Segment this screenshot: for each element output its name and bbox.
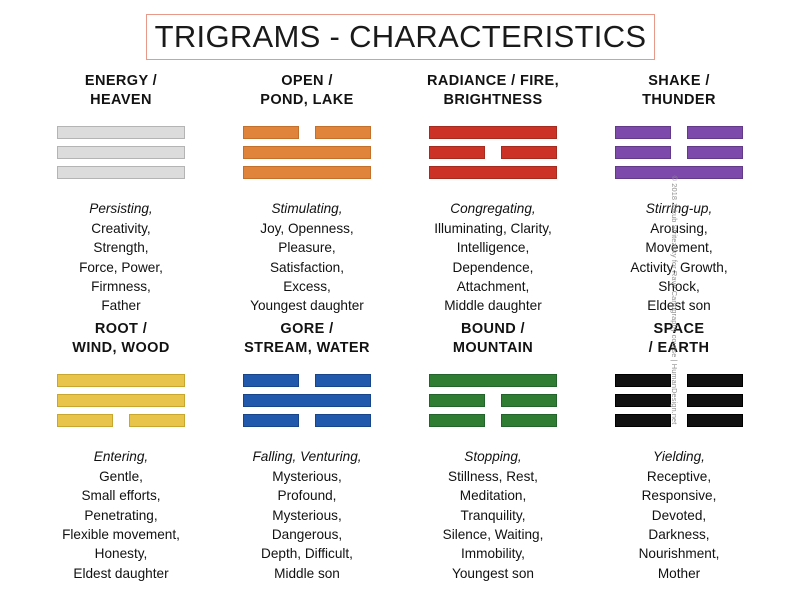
trigram-line-segment xyxy=(687,146,743,159)
trigram-keyword-line: Joy, Openness, xyxy=(250,219,364,238)
trigram-line-3-solid xyxy=(615,166,743,179)
trigram-line-2-broken xyxy=(429,146,557,159)
trigram-symbol-root-wind-wood xyxy=(57,374,185,427)
trigram-line-segment xyxy=(129,414,185,427)
trigram-line-segment xyxy=(315,126,371,139)
trigram-line-segment xyxy=(57,126,185,139)
trigram-keyword-line: Meditation, xyxy=(443,486,544,505)
trigram-title-line-1: SHAKE / xyxy=(642,72,716,91)
trigram-line-segment xyxy=(615,394,671,407)
trigram-title-line-2: MOUNTAIN xyxy=(453,339,533,358)
trigram-line-3-broken xyxy=(57,414,185,427)
trigram-line-3-broken xyxy=(243,414,371,427)
trigram-line-segment xyxy=(429,394,485,407)
poster-title-box: TRIGRAMS - CHARACTERISTICS xyxy=(146,14,655,60)
trigram-keyword-line: Father xyxy=(79,296,163,315)
trigram-line-2-solid xyxy=(57,146,185,159)
trigram-line-3-solid xyxy=(429,166,557,179)
trigram-keyword-line: Honesty, xyxy=(62,544,180,563)
trigram-keyword-lead: Stirring-up, xyxy=(630,199,727,218)
trigram-keyword-line: Small efforts, xyxy=(62,486,180,505)
trigram-symbol-radiance-fire-brightness xyxy=(429,126,557,179)
trigram-keyword-line: Profound, xyxy=(252,486,361,505)
trigram-keyword-line: Dependence, xyxy=(434,258,552,277)
trigram-keyword-line: Devoted, xyxy=(639,506,720,525)
trigram-keyword-line: Gentle, xyxy=(62,467,180,486)
trigram-keywords-radiance-fire-brightness: Congregating,Illuminating, Clarity,Intel… xyxy=(434,199,552,316)
trigram-line-1-solid xyxy=(429,374,557,387)
trigram-title-line-2: BRIGHTNESS xyxy=(427,91,559,110)
trigram-title-line-1: GORE / xyxy=(244,320,370,339)
trigram-line-segment xyxy=(501,414,557,427)
trigram-keyword-lead: Stimulating, xyxy=(250,199,364,218)
trigram-keyword-line: Mother xyxy=(639,564,720,583)
trigram-keyword-line: Responsive, xyxy=(639,486,720,505)
trigram-keyword-line: Youngest daughter xyxy=(250,296,364,315)
trigram-keyword-line: Youngest son xyxy=(443,564,544,583)
trigram-line-segment xyxy=(429,166,557,179)
trigram-keyword-line: Illuminating, Clarity, xyxy=(434,219,552,238)
trigram-keyword-line: Satisfaction, xyxy=(250,258,364,277)
trigram-title-line-2: POND, LAKE xyxy=(260,91,353,110)
trigram-line-1-broken xyxy=(243,126,371,139)
trigram-row-top: ENERGY /HEAVENPersisting,Creativity,Stre… xyxy=(28,70,772,318)
trigram-keyword-line: Middle daughter xyxy=(434,296,552,315)
trigram-keyword-line: Middle son xyxy=(252,564,361,583)
trigram-line-segment xyxy=(243,166,371,179)
trigram-title-line-1: OPEN / xyxy=(260,72,353,91)
trigram-line-1-broken xyxy=(243,374,371,387)
trigram-symbol-energy-heaven xyxy=(57,126,185,179)
trigram-keyword-line: Force, Power, xyxy=(79,258,163,277)
trigram-line-segment xyxy=(315,414,371,427)
trigram-keyword-line: Nourishment, xyxy=(639,544,720,563)
trigram-keyword-line: Stillness, Rest, xyxy=(443,467,544,486)
trigram-line-segment xyxy=(687,414,743,427)
trigram-line-segment xyxy=(243,374,299,387)
trigram-line-segment xyxy=(429,414,485,427)
trigram-title-line-1: RADIANCE / FIRE, xyxy=(427,72,559,91)
trigram-keyword-line: Activity, Growth, xyxy=(630,258,727,277)
trigram-symbol-shake-thunder xyxy=(615,126,743,179)
trigram-keyword-line: Attachment, xyxy=(434,277,552,296)
trigram-title-line-2: WIND, WOOD xyxy=(72,339,169,358)
trigram-title-line-2: HEAVEN xyxy=(85,91,157,110)
trigram-keywords-open-pond-lake: Stimulating,Joy, Openness,Pleasure,Satis… xyxy=(250,199,364,316)
trigram-line-1-solid xyxy=(429,126,557,139)
trigram-title-line-1: ENERGY / xyxy=(85,72,157,91)
trigram-grid: ENERGY /HEAVENPersisting,Creativity,Stre… xyxy=(28,70,772,586)
trigram-keyword-line: Dangerous, xyxy=(252,525,361,544)
trigram-keywords-root-wind-wood: Entering,Gentle,Small efforts,Penetratin… xyxy=(62,447,180,583)
trigram-line-segment xyxy=(57,166,185,179)
trigram-keyword-line: Pleasure, xyxy=(250,238,364,257)
trigram-keyword-line: Tranquility, xyxy=(443,506,544,525)
trigram-keyword-line: Silence, Waiting, xyxy=(443,525,544,544)
trigram-keywords-gore-stream-water: Falling, Venturing,Mysterious,Profound,M… xyxy=(252,447,361,583)
trigram-line-2-broken xyxy=(615,394,743,407)
trigram-keyword-lead: Stopping, xyxy=(443,447,544,466)
trigram-line-segment xyxy=(57,394,185,407)
trigram-line-2-solid xyxy=(57,394,185,407)
copyright-credit: © 2018 Jakub Stritezsky for Rave Cartogr… xyxy=(670,176,679,425)
trigram-cell-gore-stream-water: GORE /STREAM, WATERFalling, Venturing,My… xyxy=(214,318,400,586)
trigram-keyword-line: Eldest daughter xyxy=(62,564,180,583)
trigram-line-2-broken xyxy=(615,146,743,159)
trigram-line-3-broken xyxy=(429,414,557,427)
trigram-symbol-open-pond-lake xyxy=(243,126,371,179)
trigram-title-line-2: / EARTH xyxy=(649,339,710,358)
trigram-title-open-pond-lake: OPEN /POND, LAKE xyxy=(260,72,353,110)
trigram-keyword-line: Shock, xyxy=(630,277,727,296)
trigram-line-1-solid xyxy=(57,126,185,139)
trigram-line-segment xyxy=(615,126,671,139)
trigram-title-line-1: ROOT / xyxy=(72,320,169,339)
trigram-cell-shake-thunder: SHAKE /THUNDERStirring-up,Arousing,Movem… xyxy=(586,70,772,318)
trigram-keyword-line: Movement, xyxy=(630,238,727,257)
trigram-line-segment xyxy=(243,414,299,427)
trigram-keyword-line: Receptive, xyxy=(639,467,720,486)
trigram-keyword-line: Excess, xyxy=(250,277,364,296)
trigram-keyword-line: Mysterious, xyxy=(252,467,361,486)
trigram-line-segment xyxy=(687,394,743,407)
trigram-title-shake-thunder: SHAKE /THUNDER xyxy=(642,72,716,110)
trigram-line-2-broken xyxy=(429,394,557,407)
trigram-keyword-line: Flexible movement, xyxy=(62,525,180,544)
trigram-keywords-energy-heaven: Persisting,Creativity,Strength,Force, Po… xyxy=(79,199,163,316)
trigram-title-radiance-fire-brightness: RADIANCE / FIRE,BRIGHTNESS xyxy=(427,72,559,110)
trigram-line-segment xyxy=(429,126,557,139)
trigram-keywords-space-earth: Yielding,Receptive,Responsive,Devoted,Da… xyxy=(639,447,720,583)
trigram-title-energy-heaven: ENERGY /HEAVEN xyxy=(85,72,157,110)
trigram-keyword-line: Penetrating, xyxy=(62,506,180,525)
trigram-cell-open-pond-lake: OPEN /POND, LAKEStimulating,Joy, Opennes… xyxy=(214,70,400,318)
trigram-line-segment xyxy=(501,394,557,407)
trigram-keyword-line: Depth, Difficult, xyxy=(252,544,361,563)
trigram-cell-energy-heaven: ENERGY /HEAVENPersisting,Creativity,Stre… xyxy=(28,70,214,318)
trigram-line-3-broken xyxy=(615,414,743,427)
trigram-title-root-wind-wood: ROOT /WIND, WOOD xyxy=(72,320,169,358)
trigram-line-1-broken xyxy=(615,126,743,139)
trigram-keyword-line: Darkness, xyxy=(639,525,720,544)
trigram-line-segment xyxy=(315,374,371,387)
trigram-line-segment xyxy=(429,374,557,387)
trigram-line-segment xyxy=(615,414,671,427)
trigram-line-3-solid xyxy=(243,166,371,179)
trigram-line-2-solid xyxy=(243,146,371,159)
trigram-line-segment xyxy=(615,374,671,387)
trigram-title-gore-stream-water: GORE /STREAM, WATER xyxy=(244,320,370,358)
trigram-keyword-line: Eldest son xyxy=(630,296,727,315)
trigram-symbol-gore-stream-water xyxy=(243,374,371,427)
trigram-title-line-2: STREAM, WATER xyxy=(244,339,370,358)
trigram-line-segment xyxy=(501,146,557,159)
trigram-cell-space-earth: SPACE/ EARTHYielding,Receptive,Responsiv… xyxy=(586,318,772,586)
trigram-symbol-bound-mountain xyxy=(429,374,557,427)
trigram-cell-bound-mountain: BOUND /MOUNTAINStopping,Stillness, Rest,… xyxy=(400,318,586,586)
trigram-line-1-solid xyxy=(57,374,185,387)
trigram-line-segment xyxy=(243,146,371,159)
trigram-keyword-lead: Congregating, xyxy=(434,199,552,218)
trigram-line-segment xyxy=(57,414,113,427)
trigram-line-segment xyxy=(243,126,299,139)
trigram-title-bound-mountain: BOUND /MOUNTAIN xyxy=(453,320,533,358)
trigram-line-segment xyxy=(615,146,671,159)
trigram-keyword-line: Intelligence, xyxy=(434,238,552,257)
trigram-line-segment xyxy=(687,126,743,139)
trigram-keywords-shake-thunder: Stirring-up,Arousing,Movement,Activity, … xyxy=(630,199,727,316)
trigram-keyword-lead: Persisting, xyxy=(79,199,163,218)
trigram-line-segment xyxy=(687,374,743,387)
trigram-keywords-bound-mountain: Stopping,Stillness, Rest,Meditation,Tran… xyxy=(443,447,544,583)
trigram-line-segment xyxy=(57,374,185,387)
trigram-keyword-line: Strength, xyxy=(79,238,163,257)
trigram-keyword-line: Arousing, xyxy=(630,219,727,238)
trigram-row-bottom: ROOT /WIND, WOODEntering,Gentle,Small ef… xyxy=(28,318,772,586)
trigram-line-2-solid xyxy=(243,394,371,407)
trigram-symbol-space-earth xyxy=(615,374,743,427)
trigram-keyword-lead: Yielding, xyxy=(639,447,720,466)
trigram-keyword-line: Firmness, xyxy=(79,277,163,296)
trigram-keyword-lead: Entering, xyxy=(62,447,180,466)
trigram-cell-root-wind-wood: ROOT /WIND, WOODEntering,Gentle,Small ef… xyxy=(28,318,214,586)
trigram-line-segment xyxy=(57,146,185,159)
trigram-line-segment xyxy=(429,146,485,159)
trigram-line-1-broken xyxy=(615,374,743,387)
trigram-title-line-1: BOUND / xyxy=(453,320,533,339)
trigram-line-segment xyxy=(243,394,371,407)
trigram-title-space-earth: SPACE/ EARTH xyxy=(649,320,710,358)
poster-page: TRIGRAMS - CHARACTERISTICS ENERGY /HEAVE… xyxy=(0,0,800,600)
trigram-keyword-lead: Falling, Venturing, xyxy=(252,447,361,466)
trigram-cell-radiance-fire-brightness: RADIANCE / FIRE,BRIGHTNESSCongregating,I… xyxy=(400,70,586,318)
trigram-line-3-solid xyxy=(57,166,185,179)
trigram-keyword-line: Immobility, xyxy=(443,544,544,563)
trigram-title-line-2: THUNDER xyxy=(642,91,716,110)
trigram-keyword-line: Creativity, xyxy=(79,219,163,238)
trigram-line-segment xyxy=(615,166,743,179)
trigram-keyword-line: Mysterious, xyxy=(252,506,361,525)
page-title: TRIGRAMS - CHARACTERISTICS xyxy=(155,19,647,55)
trigram-title-line-1: SPACE xyxy=(649,320,710,339)
